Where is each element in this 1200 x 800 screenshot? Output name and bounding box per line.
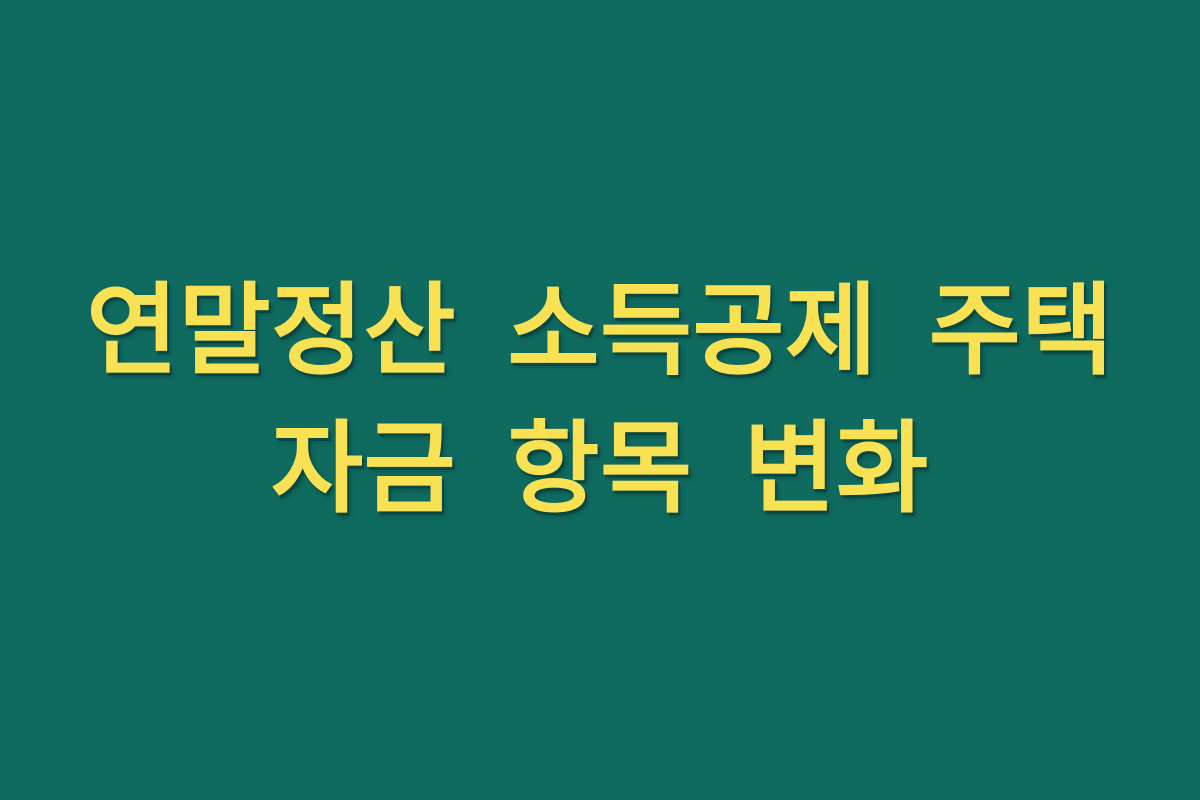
- title-line-2: 자금 항목 변화: [40, 400, 1160, 538]
- page-title: 연말정산 소득공제 주택 자금 항목 변화: [40, 262, 1160, 538]
- title-banner: 연말정산 소득공제 주택 자금 항목 변화: [0, 0, 1200, 800]
- title-line-1: 연말정산 소득공제 주택: [40, 262, 1160, 400]
